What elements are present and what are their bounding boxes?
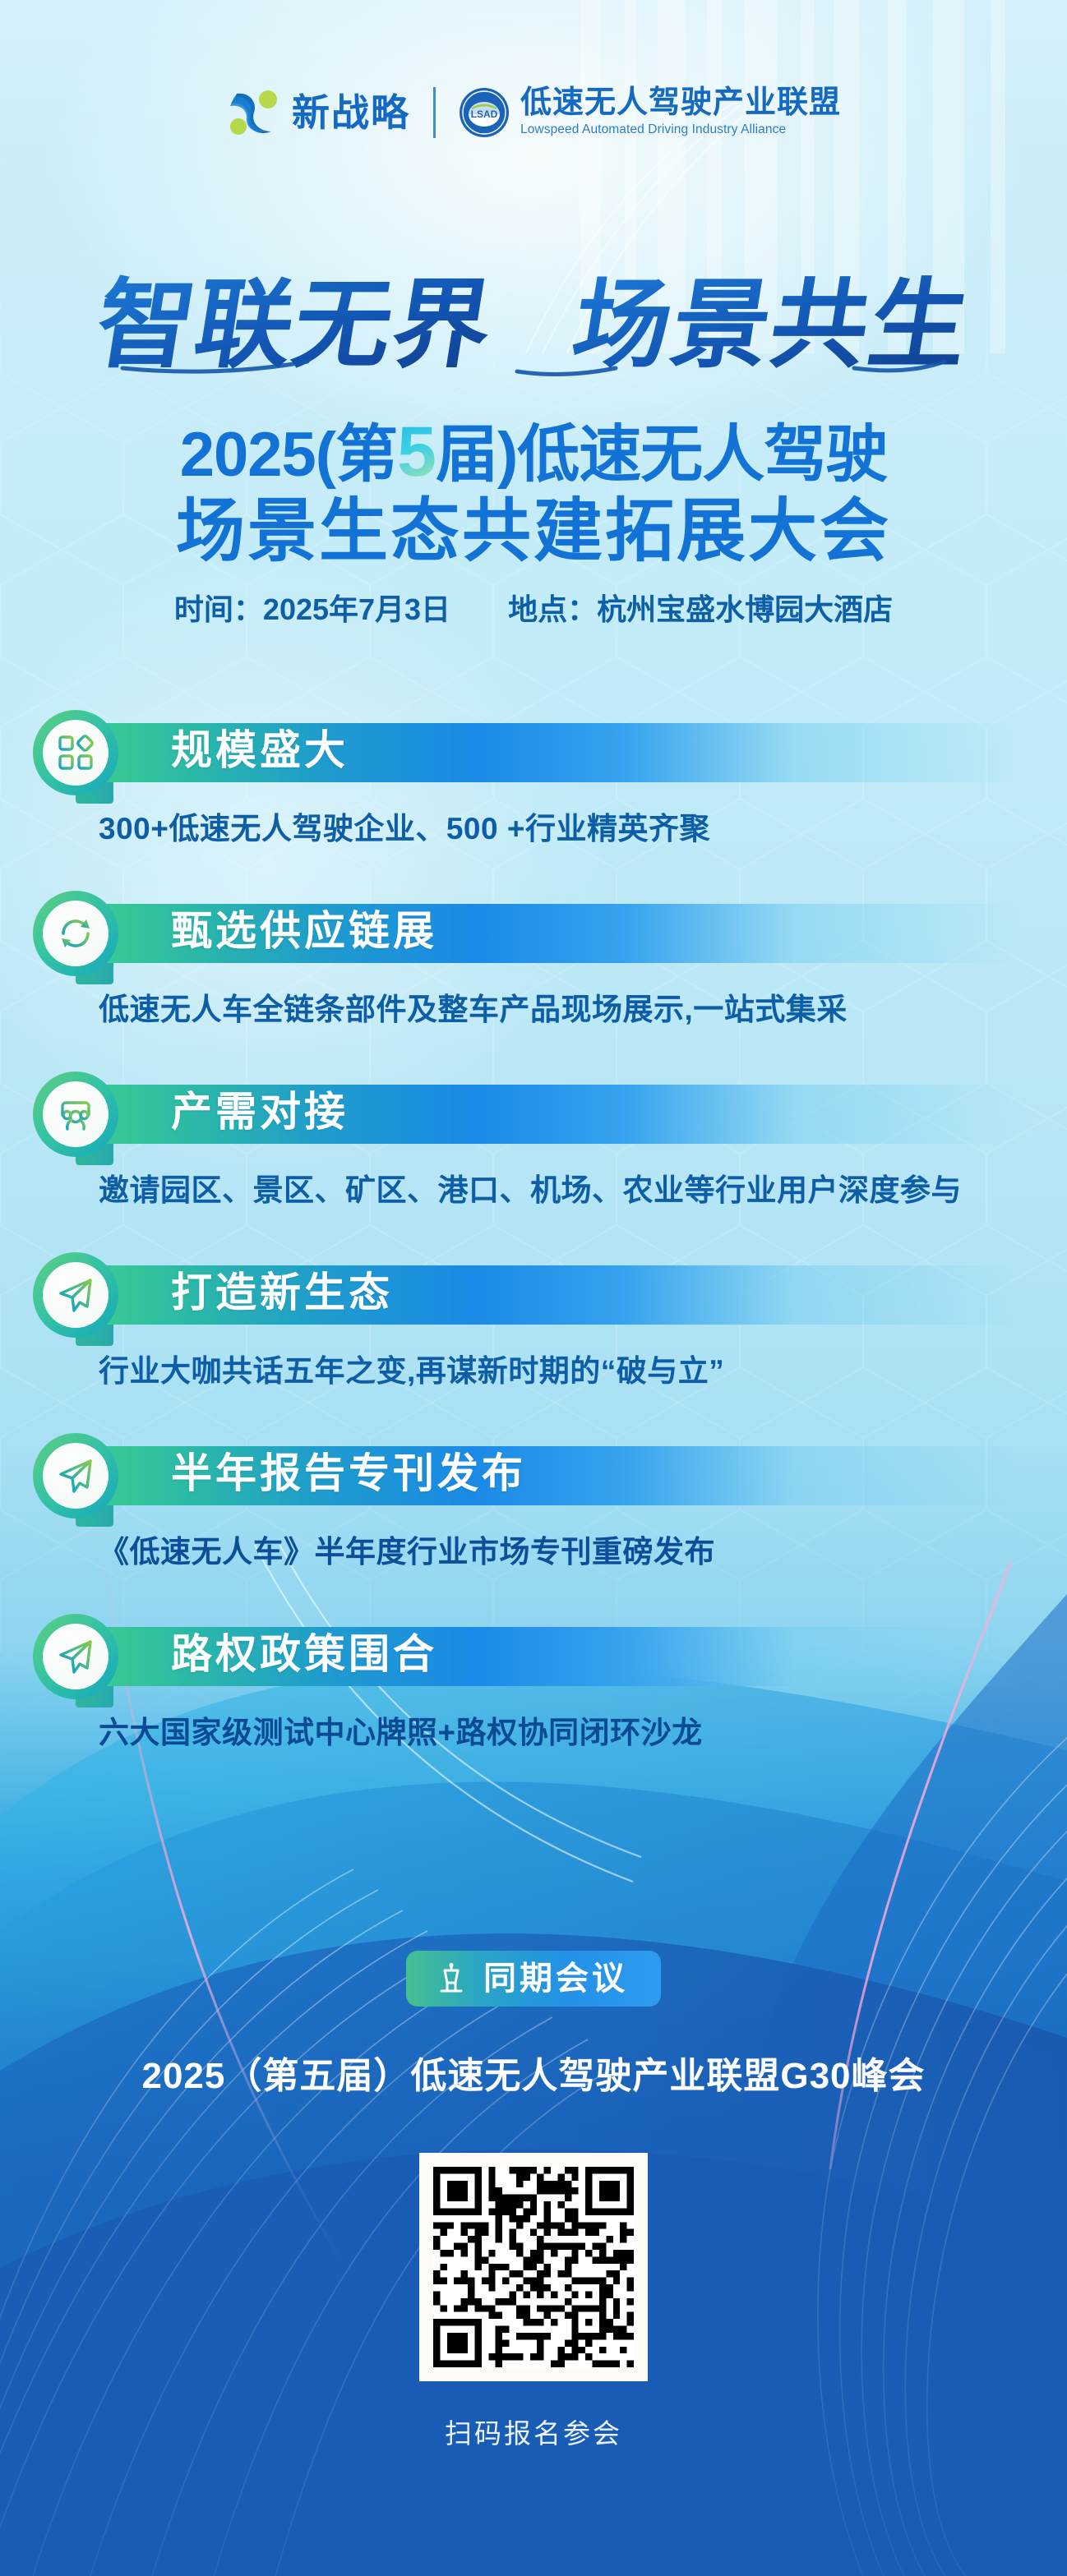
feature-title: 半年报告专刊发布	[171, 1453, 526, 1494]
conference-badge-wrap: 同期会议	[0, 1951, 1067, 2007]
feature-icon-ring	[33, 1433, 118, 1518]
conference-badge: 同期会议	[406, 1951, 661, 2007]
feature-icon-ring	[33, 891, 118, 976]
feature-item-3: 产需对接 邀请园区、景区、矿区、港口、机场、农业等行业用户深度参与	[0, 1070, 1067, 1251]
refresh-cycle-icon	[56, 914, 95, 953]
xinzhanlue-logo-icon	[226, 85, 280, 140]
title-line-1-prefix: 2025(第	[180, 420, 397, 490]
feature-desc: 邀请园区、景区、矿区、港口、机场、农业等行业用户深度参与	[99, 1175, 962, 1205]
feature-item-6: 路权政策围合 六大国家级测试中心牌照+路权协同闭环沙龙	[0, 1612, 1067, 1793]
feature-title: 路权政策围合	[171, 1634, 437, 1675]
conference-badge-label: 同期会议	[483, 1962, 628, 1995]
event-time: 时间：2025年7月3日	[174, 586, 450, 629]
feature-icon-inner	[43, 720, 109, 786]
event-meta: 时间：2025年7月3日 地点：杭州宝盛水博园大酒店	[0, 586, 1067, 629]
slogan-brush-text: 智联无界 场景共生	[90, 271, 977, 386]
alliance-logo-group: LSAD 低速无人驾驶产业联盟 Lowspeed Automated Drivi…	[459, 87, 841, 138]
qr-code-block	[0, 2153, 1067, 2385]
feature-title: 打造新生态	[171, 1272, 393, 1313]
title-edition-number: 5	[397, 412, 436, 491]
feature-icon-ring	[33, 710, 118, 795]
feature-desc: 300+低速无人驾驶企业、500 +行业精英齐聚	[99, 813, 710, 844]
feature-title: 规模盛大	[171, 730, 349, 771]
feature-icon-inner	[43, 901, 109, 966]
alliance-text-block: 低速无人驾驶产业联盟 Lowspeed Automated Driving In…	[520, 87, 841, 137]
feature-item-1: 规模盛大 300+低速无人驾驶企业、500 +行业精英齐聚	[0, 708, 1067, 889]
poster-header: 新战略 LSAD 低速无人驾驶产业联盟 Lowspeed Automated D…	[0, 85, 1067, 140]
paper-plane-icon	[56, 1637, 95, 1676]
paper-plane-icon	[56, 1275, 95, 1315]
lsad-seal-logo-icon: LSAD	[459, 87, 510, 138]
paper-plane-icon	[56, 1456, 95, 1495]
main-title-block: 2025(第5届)低速无人驾驶 场景生态共建拓展大会 时间：2025年7月3日 …	[0, 415, 1067, 629]
feature-desc: 低速无人车全链条部件及整车产品现场展示,一站式集采	[99, 994, 848, 1025]
conference-name: 2025（第五届）低速无人驾驶产业联盟G30峰会	[0, 2046, 1067, 2099]
feature-list: 规模盛大 300+低速无人驾驶企业、500 +行业精英齐聚	[0, 708, 1067, 1793]
grid-apps-icon	[56, 733, 95, 772]
feature-item-4: 打造新生态 行业大咖共话五年之变,再谋新时期的“破与立”	[0, 1251, 1067, 1431]
alliance-name-cn: 低速无人驾驶产业联盟	[520, 87, 841, 120]
feature-desc: 行业大咖共话五年之变,再谋新时期的“破与立”	[99, 1356, 724, 1386]
svg-text:LSAD: LSAD	[471, 108, 498, 120]
title-line-1: 2025(第5届)低速无人驾驶	[0, 415, 1067, 490]
feature-icon-inner	[43, 1081, 109, 1147]
people-group-icon	[56, 1094, 95, 1134]
event-place: 地点：杭州宝盛水博园大酒店	[508, 586, 893, 629]
feature-icon-inner	[43, 1262, 109, 1328]
brand-logo-group: 新战略	[226, 85, 410, 140]
calligraphy-slogan: 智联无界 场景共生	[0, 271, 1067, 386]
feature-desc: 《低速无人车》半年度行业市场专刊重磅发布	[99, 1537, 715, 1567]
podium-lectern-icon	[434, 1961, 469, 1996]
poster-root: 新战略 LSAD 低速无人驾驶产业联盟 Lowspeed Automated D…	[0, 0, 1067, 2576]
qr-code-frame	[419, 2153, 648, 2381]
title-line-1-suffix: 届)低速无人驾驶	[436, 420, 887, 490]
feature-icon-ring	[33, 1252, 118, 1338]
feature-icon-ring	[33, 1614, 118, 1699]
brand-name: 新战略	[292, 94, 410, 131]
feature-item-5: 半年报告专刊发布 《低速无人车》半年度行业市场专刊重磅发布	[0, 1431, 1067, 1612]
qr-code-icon[interactable]	[433, 2167, 634, 2367]
feature-icon-inner	[43, 1624, 109, 1689]
alliance-name-en: Lowspeed Automated Driving Industry Alli…	[520, 122, 841, 137]
feature-item-2: 甄选供应链展 低速无人车全链条部件及整车产品现场展示,一站式集采	[0, 889, 1067, 1070]
feature-title: 甄选供应链展	[171, 910, 437, 952]
feature-desc: 六大国家级测试中心牌照+路权协同闭环沙龙	[99, 1717, 703, 1748]
feature-title: 产需对接	[171, 1091, 349, 1132]
feature-icon-inner	[43, 1443, 109, 1509]
header-divider	[433, 87, 436, 138]
slogan-part-2: 场景共生	[566, 271, 977, 382]
feature-icon-ring	[33, 1071, 118, 1157]
title-line-2: 场景生态共建拓展大会	[0, 495, 1067, 568]
qr-caption: 扫码报名参会	[0, 2412, 1067, 2451]
